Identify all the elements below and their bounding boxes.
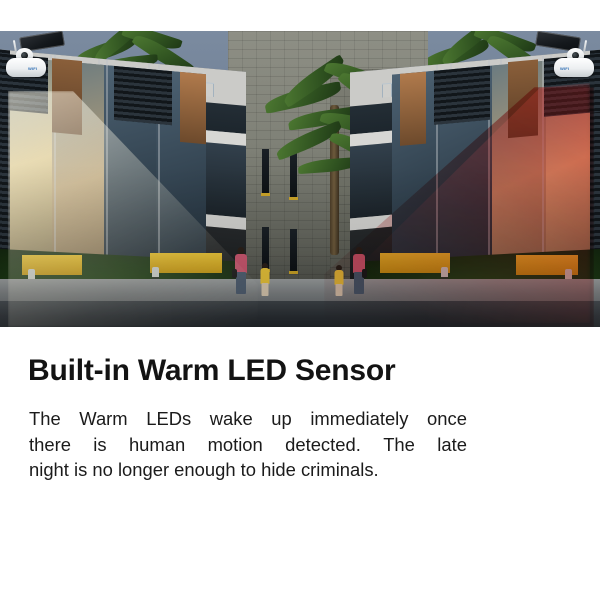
accent-panel-3 [380, 253, 450, 273]
text-section: Built-in Warm LED Sensor TheWarmLEDswake… [0, 327, 600, 600]
product-feature-page: WIFI WIFI Built-in Warm LED Sensor TheWa… [0, 0, 600, 600]
description-line-3: night is no longer enough to hide crimin… [29, 457, 467, 483]
description-line-1: TheWarmLEDswakeupimmediatelyonce [29, 406, 467, 432]
camera-body: WIFI [6, 58, 46, 77]
person-child-right [332, 265, 346, 297]
description-paragraph: TheWarmLEDswakeupimmediatelyonce thereis… [29, 406, 467, 483]
courtyard-ground [0, 243, 600, 327]
person-child-left [258, 263, 272, 297]
person-woman-left [232, 247, 250, 295]
accent-panel-2 [150, 253, 222, 273]
product-scene-photo: WIFI WIFI [0, 31, 600, 327]
camera-brand-mark: WIFI [560, 66, 569, 71]
camera-brand-mark: WIFI [28, 66, 37, 71]
antenna-icon [583, 40, 587, 53]
road [0, 301, 600, 327]
description-line-2: thereishumanmotiondetected.Thelate [29, 432, 467, 458]
page-title: Built-in Warm LED Sensor [28, 354, 548, 388]
person-woman-right [350, 247, 368, 295]
solar-security-camera-left[interactable]: WIFI [2, 34, 64, 80]
solar-security-camera-right[interactable]: WIFI [536, 34, 598, 80]
camera-body: WIFI [554, 58, 594, 77]
